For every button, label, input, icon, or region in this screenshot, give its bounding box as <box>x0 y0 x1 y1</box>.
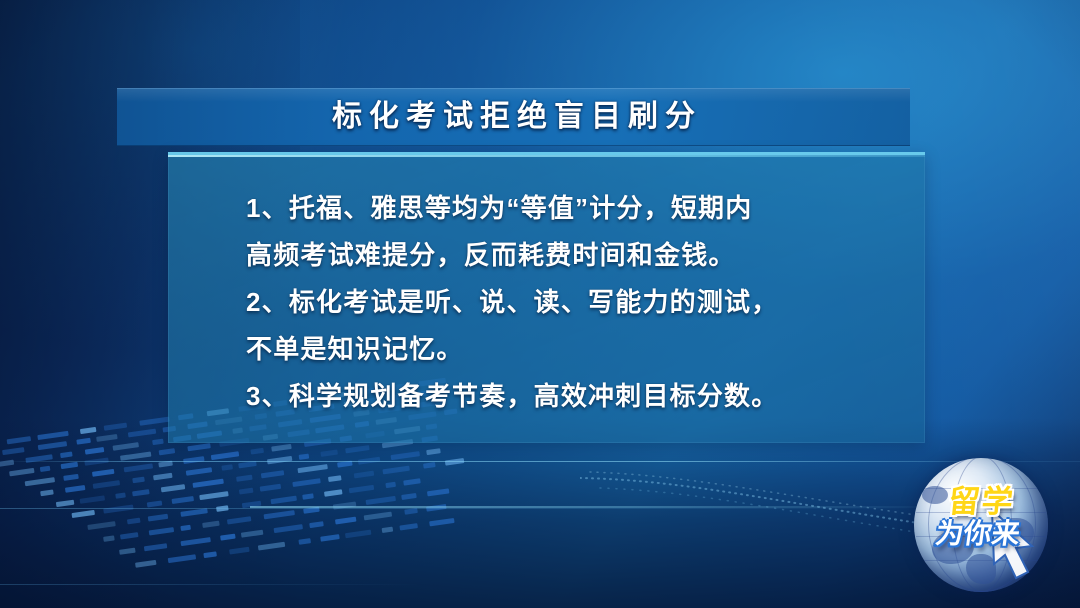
dash-segment <box>85 447 105 455</box>
dash-segment <box>61 462 79 469</box>
dash-segment <box>119 548 136 555</box>
dash-segment <box>120 452 151 461</box>
dash-segment <box>236 475 253 482</box>
dash-segment <box>158 461 173 468</box>
dash-segment <box>60 451 73 458</box>
dash-segment <box>238 461 257 468</box>
dash-segment <box>152 439 164 445</box>
dash-segment <box>147 501 163 508</box>
dash-segment <box>187 443 210 451</box>
dash-segment <box>242 501 262 509</box>
dash-segment <box>192 479 223 488</box>
dash-segment <box>203 552 217 559</box>
dash-segment <box>159 448 176 455</box>
dash-segment <box>93 480 120 489</box>
dash-segment <box>72 510 95 518</box>
body-line: 1、托福、雅思等均为“等值”计分，短期内 <box>246 185 895 232</box>
dash-segment <box>220 534 236 541</box>
dash-segment <box>391 451 420 460</box>
dash-segment <box>258 542 285 551</box>
broadcast-graphic-slide: 标化考试拒绝盲目刷分 1、托福、雅思等均为“等值”计分，短期内 高频考试难提分，… <box>0 0 1080 608</box>
dash-segment <box>241 530 263 538</box>
dash-segment <box>65 485 86 493</box>
dash-segment <box>76 438 91 445</box>
dash-segment <box>2 447 24 455</box>
dash-segment <box>80 495 105 503</box>
dash-segment <box>335 517 356 525</box>
dash-segment <box>309 521 324 528</box>
dash-segment <box>385 482 396 488</box>
dash-segment <box>7 436 31 444</box>
dash-segment <box>104 423 127 431</box>
dash-segment <box>426 504 447 512</box>
dash-segment <box>227 516 251 524</box>
dash-segment <box>135 560 156 568</box>
dash-segment <box>186 467 212 476</box>
dash-segment <box>113 442 139 451</box>
dash-segment <box>429 518 454 526</box>
accent-line <box>0 584 420 585</box>
dash-segment <box>127 518 141 525</box>
dash-segment <box>399 523 418 530</box>
dash-segment <box>120 532 139 539</box>
dash-segment <box>38 441 67 450</box>
body-text-list: 1、托福、雅思等均为“等值”计分，短期内 高频考试难提分，反而耗费时间和金钱。 … <box>246 185 895 420</box>
dash-segment <box>216 505 229 512</box>
body-line: 高频考试难提分，反而耗费时间和金钱。 <box>246 232 895 279</box>
dash-segment <box>382 466 409 475</box>
dash-segment <box>144 543 167 551</box>
dash-row <box>119 505 437 554</box>
dash-segment <box>297 464 327 473</box>
dash-segment <box>345 530 371 539</box>
dash-segment <box>202 521 220 528</box>
dash-segment <box>404 508 418 515</box>
dash-segment <box>0 460 14 468</box>
dash-segment <box>250 448 264 455</box>
dash-segment <box>128 429 156 438</box>
body-line: 不单是知识记忆。 <box>246 326 895 373</box>
dash-segment <box>337 461 353 468</box>
dash-row <box>72 465 419 519</box>
dash-segment <box>324 489 343 496</box>
dash-segment <box>345 445 369 453</box>
dash-segment <box>366 496 396 505</box>
dash-segment <box>298 538 311 545</box>
content-panel: 1、托福、雅思等均为“等值”计分，短期内 高频考试难提分，反而耗费时间和金钱。 … <box>168 152 925 443</box>
program-logo: 留学 为你来 <box>906 452 1056 602</box>
dash-segment <box>267 456 292 464</box>
dash-segment <box>80 427 97 434</box>
dash-segment <box>87 521 115 530</box>
dash-segment <box>40 490 54 497</box>
dash-segment <box>445 458 465 466</box>
dash-segment <box>302 493 314 499</box>
dash-segment <box>132 477 145 484</box>
dash-segment <box>354 471 375 479</box>
dash-segment <box>401 493 417 500</box>
dash-row <box>87 478 424 530</box>
dash-row <box>40 440 407 496</box>
accent-line <box>250 506 950 508</box>
title-band: 标化考试拒绝盲目刷分 <box>117 88 910 146</box>
body-line: 2、标化考试是听、说、读、写能力的测试， <box>246 279 895 326</box>
dash-segment <box>149 527 174 535</box>
dash-segment <box>260 484 281 492</box>
dash-segment <box>239 488 254 495</box>
dash-segment <box>221 465 233 471</box>
dash-segment <box>153 473 173 481</box>
dash-segment <box>180 537 210 546</box>
dash-segment <box>180 508 207 517</box>
dash-segment <box>56 500 75 507</box>
dash-segment <box>320 534 340 542</box>
dash-segment <box>9 468 34 476</box>
dash-segment <box>37 431 68 440</box>
dash-segment <box>172 496 194 504</box>
dash-segment <box>96 434 117 442</box>
dash-segment <box>423 462 436 469</box>
dash-segment <box>103 505 133 514</box>
dash-segment <box>183 456 204 464</box>
dash-segment <box>264 510 295 519</box>
dash-segment <box>25 477 55 486</box>
dash-row <box>103 491 430 542</box>
dash-segment <box>161 484 185 492</box>
dash-segment <box>358 457 380 465</box>
dash-segment <box>382 527 394 533</box>
dash-segment <box>303 507 320 514</box>
dash-segment <box>292 478 320 487</box>
page-title: 标化考试拒绝盲目刷分 <box>117 88 910 146</box>
dash-segment <box>328 476 342 483</box>
dash-segment <box>333 502 356 510</box>
dash-segment <box>63 474 79 481</box>
dash-segment <box>103 536 115 542</box>
dash-segment <box>211 451 239 460</box>
dash-segment <box>168 555 196 564</box>
dash-segment <box>92 469 114 477</box>
dash-row <box>135 520 443 568</box>
dash-segment <box>261 470 284 478</box>
dash-segment <box>199 491 228 500</box>
dash-segment <box>271 444 292 452</box>
dash-segment <box>180 525 191 531</box>
dash-segment <box>40 466 51 472</box>
dash-segment <box>132 489 150 496</box>
logo-text: 留学 为你来 <box>906 452 1056 602</box>
dash-segment <box>403 478 421 485</box>
dash-segment <box>229 547 250 555</box>
body-line: 3、科学规划备考节奏，高效冲刺目标分数。 <box>246 373 895 420</box>
dash-segment <box>349 485 374 493</box>
dash-segment <box>320 450 338 457</box>
dash-segment <box>25 454 52 463</box>
dash-row <box>56 452 413 507</box>
dash-segment <box>115 492 126 498</box>
dash-segment <box>427 489 449 497</box>
dash-segment <box>84 458 108 466</box>
logo-line-2: 为你来 <box>909 512 1047 552</box>
dash-segment <box>426 448 441 455</box>
dash-segment <box>271 496 297 505</box>
dash-segment <box>299 454 310 460</box>
dash-segment <box>139 417 169 426</box>
dash-segment <box>364 512 392 521</box>
dash-segment <box>148 514 169 522</box>
dash-segment <box>124 463 153 472</box>
dash-segment <box>274 524 303 533</box>
